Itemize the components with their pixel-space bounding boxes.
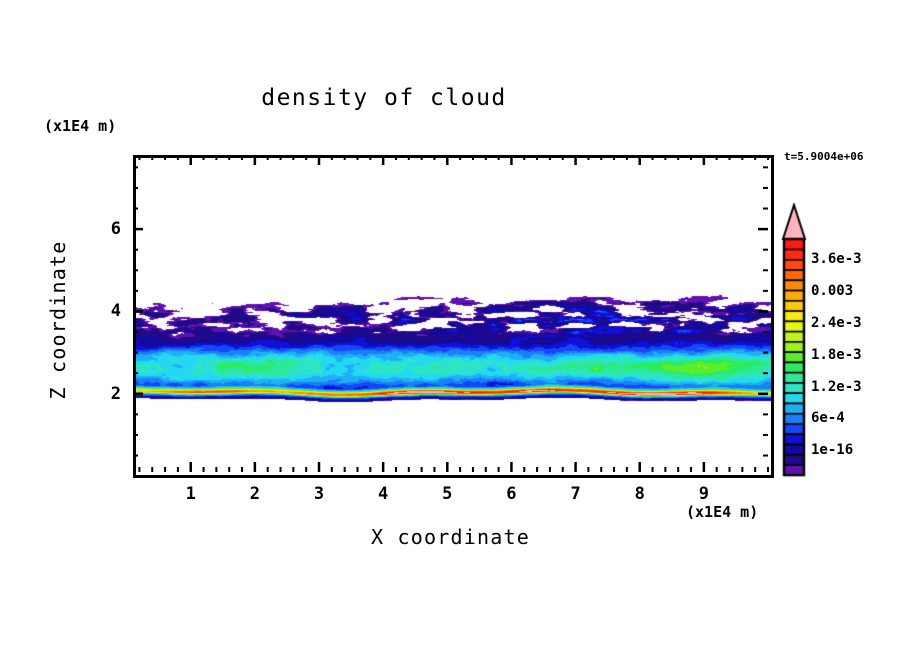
colorbar[interactable]: 3.6e-30.0032.4e-31.8e-31.2e-36e-41e-16 [779,203,899,488]
x-tick-label: 7 [570,484,580,504]
time-annotation: t=5.9004e+06 [784,150,863,163]
colorbar-tick-label: 2.4e-3 [811,315,862,331]
plot-area [133,155,774,478]
x-tick-label: 1 [186,484,196,504]
figure-canvas: density of cloud (x1E4 m) t=5.9004e+06 1… [0,0,904,654]
x-tick-label: 8 [635,484,645,504]
colorbar-tick-label: 1e-16 [811,442,853,458]
x-tick-label: 4 [378,484,388,504]
x-tick-label: 6 [506,484,516,504]
x-tick-label: 5 [442,484,452,504]
y-axis-label: Z coordinate [46,225,70,415]
x-tick-label: 2 [250,484,260,504]
y-tick-label: 4 [95,301,121,321]
y-tick-label: 6 [95,219,121,239]
colorbar-tick-label: 1.8e-3 [811,347,862,363]
contour-field [136,158,771,475]
colorbar-tick-label: 3.6e-3 [811,251,862,267]
colorbar-tick-label: 1.2e-3 [811,379,862,395]
colorbar-tick-label: 6e-4 [811,410,845,426]
x-tick-label: 3 [314,484,324,504]
page-title: density of cloud [0,85,768,111]
colorbar-tick-label: 0.003 [811,283,853,299]
x-tick-label: 9 [699,484,709,504]
x-axis-units-label: (x1E4 m) [686,503,758,521]
y-axis-units-label: (x1E4 m) [44,117,116,135]
y-tick-label: 2 [95,384,121,404]
x-axis-label: X coordinate [133,525,768,549]
